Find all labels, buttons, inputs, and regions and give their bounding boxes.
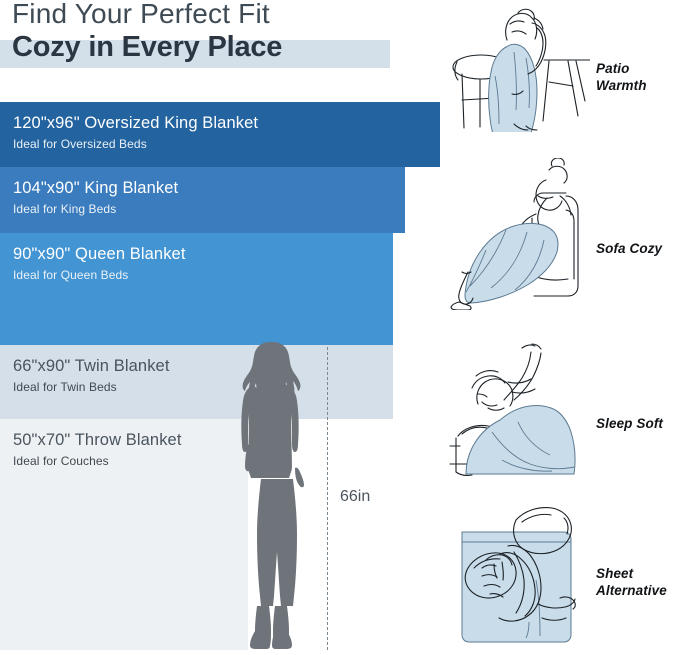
patio-blanket-illustration-icon bbox=[448, 4, 590, 137]
size-band-title: 90"x90" Queen Blanket bbox=[13, 245, 186, 264]
size-band-subtitle: Ideal for Twin Beds bbox=[13, 380, 117, 394]
size-band-king[interactable]: 104"x90" King Blanket Ideal for King Bed… bbox=[0, 167, 405, 233]
size-band-subtitle: Ideal for King Beds bbox=[13, 202, 116, 216]
size-band-title: 120"x96" Oversized King Blanket bbox=[13, 114, 258, 133]
size-band-title: 66"x90" Twin Blanket bbox=[13, 357, 170, 376]
height-reference-label: 66in bbox=[340, 488, 370, 506]
size-band-queen[interactable]: 90"x90" Queen Blanket Ideal for Queen Be… bbox=[0, 233, 393, 345]
blanket-size-chart: 120"x96" Oversized King Blanket Ideal fo… bbox=[0, 102, 440, 650]
use-case-label: Sheet Alternative bbox=[596, 565, 667, 599]
sofa-blanket-illustration-icon bbox=[448, 158, 590, 315]
use-case-label: Sleep Soft bbox=[596, 415, 663, 432]
size-band-subtitle: Ideal for Couches bbox=[13, 454, 109, 468]
size-band-subtitle: Ideal for Oversized Beds bbox=[13, 137, 147, 151]
size-band-throw[interactable]: 50"x70" Throw Blanket Ideal for Couches bbox=[0, 419, 248, 650]
size-band-title: 104"x90" King Blanket bbox=[13, 179, 178, 198]
size-band-oversized-king[interactable]: 120"x96" Oversized King Blanket Ideal fo… bbox=[0, 102, 440, 167]
page-header: Find Your Perfect Fit Cozy in Every Plac… bbox=[0, 0, 440, 100]
size-band-twin[interactable]: 66"x90" Twin Blanket Ideal for Twin Beds bbox=[0, 345, 393, 419]
use-case-rail: Patio Warmth bbox=[444, 0, 679, 650]
female-standing-silhouette-icon bbox=[222, 340, 318, 650]
bed-sleeping-illustration-icon bbox=[448, 342, 590, 487]
infographic-page: Find Your Perfect Fit Cozy in Every Plac… bbox=[0, 0, 679, 650]
use-case-label: Patio Warmth bbox=[596, 60, 647, 94]
eyebrow-text: Find Your Perfect Fit bbox=[12, 0, 270, 30]
page-title: Cozy in Every Place bbox=[12, 31, 282, 64]
size-band-subtitle: Ideal for Queen Beds bbox=[13, 268, 128, 282]
height-reference-dashed-line bbox=[327, 347, 328, 650]
use-case-label: Sofa Cozy bbox=[596, 240, 662, 257]
sheet-bed-illustration-icon bbox=[448, 498, 590, 655]
size-band-title: 50"x70" Throw Blanket bbox=[13, 431, 182, 450]
